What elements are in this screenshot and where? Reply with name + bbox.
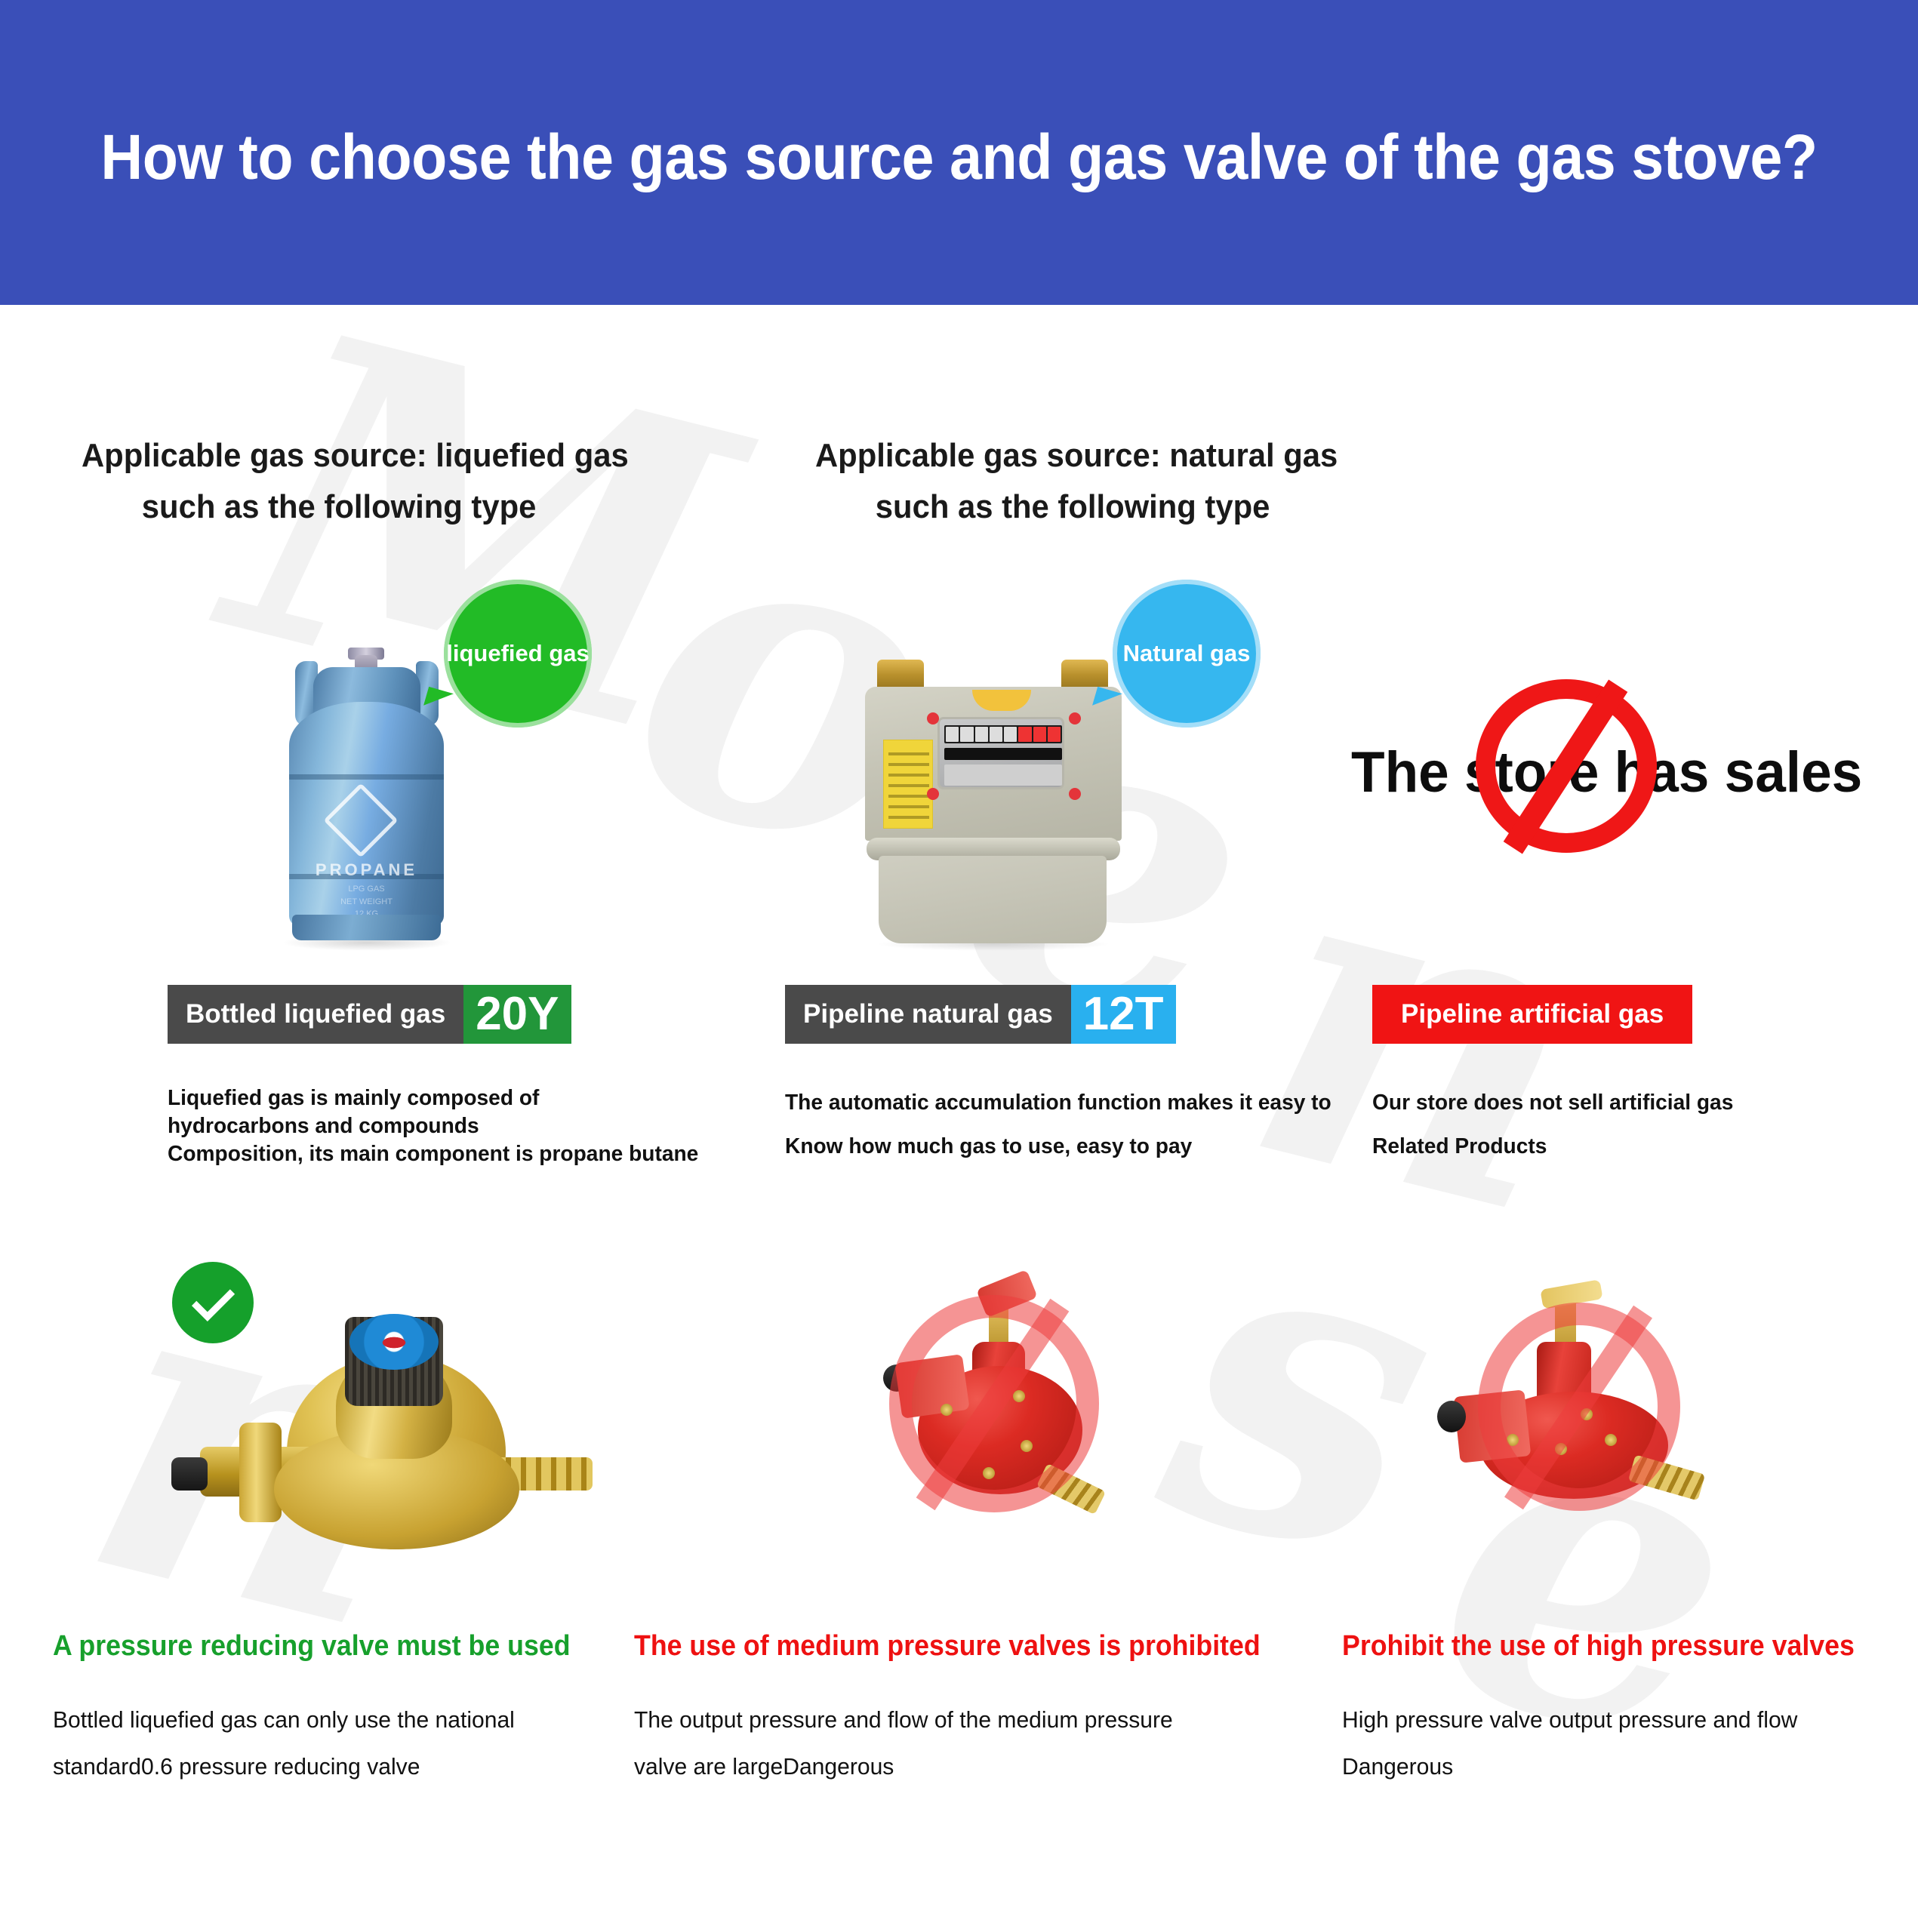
badge-bottled-liquefied: Bottled liquefied gas 20Y: [168, 985, 571, 1044]
section-heading-natural: Applicable gas source: natural gas such …: [815, 430, 1338, 533]
description-liquefied-line3: Composition, its main component is propa…: [168, 1140, 698, 1168]
section-heading-liquefied: Applicable gas source: liquefied gas suc…: [82, 430, 629, 533]
page-header-banner: How to choose the gas source and gas val…: [0, 0, 1918, 305]
page-title: How to choose the gas source and gas val…: [77, 121, 1842, 194]
meter-dial-plate: [944, 764, 1062, 786]
high-pressure-valve-image: [1381, 1245, 1736, 1547]
valve-body-0: Bottled liquefied gas can only use the n…: [53, 1697, 515, 1790]
badge-bottled-liquefied-label: Bottled liquefied gas: [168, 985, 463, 1044]
meter-lower-housing: [879, 856, 1107, 943]
meter-warning-label: [883, 740, 933, 829]
badge-pipeline-natural: Pipeline natural gas 12T: [785, 985, 1176, 1044]
valve-body-1-line1: The output pressure and flow of the medi…: [634, 1697, 1173, 1743]
description-liquefied: Liquefied gas is mainly composed of hydr…: [168, 1084, 698, 1168]
meter-screw: [1069, 712, 1081, 724]
brass-inlet-cap: [171, 1457, 208, 1491]
medium-pressure-valve-image: [845, 1253, 1200, 1555]
meter-dial-row: [944, 748, 1062, 760]
badge-pipeline-natural-code: 12T: [1071, 985, 1176, 1044]
cylinder-foot-ring: [292, 915, 441, 940]
valve-body-2-line2: Dangerous: [1342, 1743, 1797, 1790]
description-natural: The automatic accumulation function make…: [785, 1081, 1332, 1168]
valve-caption-0: A pressure reducing valve must be used: [53, 1630, 571, 1663]
meter-digit-register: [944, 725, 1062, 743]
badge-bottled-liquefied-code: 20Y: [463, 985, 571, 1044]
section-heading-liquefied-line1: Applicable gas source: liquefied gas: [82, 437, 629, 474]
cylinder-band: [289, 774, 444, 780]
valve-body-2-line1: High pressure valve output pressure and …: [1342, 1697, 1797, 1743]
red-valve-inlet-cap: [1437, 1401, 1466, 1432]
description-artificial-line1: Our store does not sell artificial gas: [1372, 1081, 1733, 1124]
meter-dial-window: [937, 717, 1064, 789]
valve-caption-1: The use of medium pressure valves is pro…: [634, 1630, 1261, 1663]
cylinder-brand-text: PROPANE: [268, 860, 465, 880]
section-heading-liquefied-line2: such as the following type: [142, 481, 629, 533]
section-heading-natural-line2: such as the following type: [876, 481, 1338, 533]
valve-body-0-line1: Bottled liquefied gas can only use the n…: [53, 1697, 515, 1743]
valve-caption-2: Prohibit the use of high pressure valves: [1342, 1630, 1855, 1663]
meter-screw: [1069, 788, 1081, 800]
valve-body-1-line2: valve are largeDangerous: [634, 1743, 1173, 1790]
section-heading-natural-line1: Applicable gas source: natural gas: [815, 437, 1338, 474]
prohibition-icon-store: [1476, 679, 1657, 853]
speech-bubble-natural-label: Natural gas: [1123, 640, 1251, 667]
description-natural-line1: The automatic accumulation function make…: [785, 1081, 1332, 1124]
speech-bubble-liquefied-label: liquefied gas: [446, 640, 589, 667]
badge-pipeline-artificial-label: Pipeline artificial gas: [1372, 985, 1692, 1044]
description-liquefied-line1: Liquefied gas is mainly composed of: [168, 1084, 698, 1112]
brass-coupling-flange: [239, 1423, 282, 1522]
brass-knob-cap-logo: [349, 1314, 439, 1370]
meter-screw: [927, 712, 939, 724]
description-artificial: Our store does not sell artificial gas R…: [1372, 1081, 1733, 1168]
speech-bubble-liquefied-gas: liquefied gas: [444, 580, 592, 728]
valve-body-1: The output pressure and flow of the medi…: [634, 1697, 1173, 1790]
valve-body-2: High pressure valve output pressure and …: [1342, 1697, 1797, 1790]
propane-cylinder-image: PROPANE LPG GASNET WEIGHT12 KG: [268, 634, 464, 943]
description-artificial-line2: Related Products: [1372, 1124, 1733, 1168]
speech-bubble-natural-gas: Natural gas: [1113, 580, 1261, 728]
badge-pipeline-natural-label: Pipeline natural gas: [785, 985, 1071, 1044]
description-liquefied-line2: hydrocarbons and compounds: [168, 1112, 698, 1140]
badge-pipeline-artificial: Pipeline artificial gas: [1372, 985, 1692, 1044]
brass-pressure-reducing-valve-image: [155, 1309, 608, 1589]
meter-screw: [927, 788, 939, 800]
valve-body-0-line2: standard0.6 pressure reducing valve: [53, 1743, 515, 1790]
description-natural-line2: Know how much gas to use, easy to pay: [785, 1124, 1332, 1168]
